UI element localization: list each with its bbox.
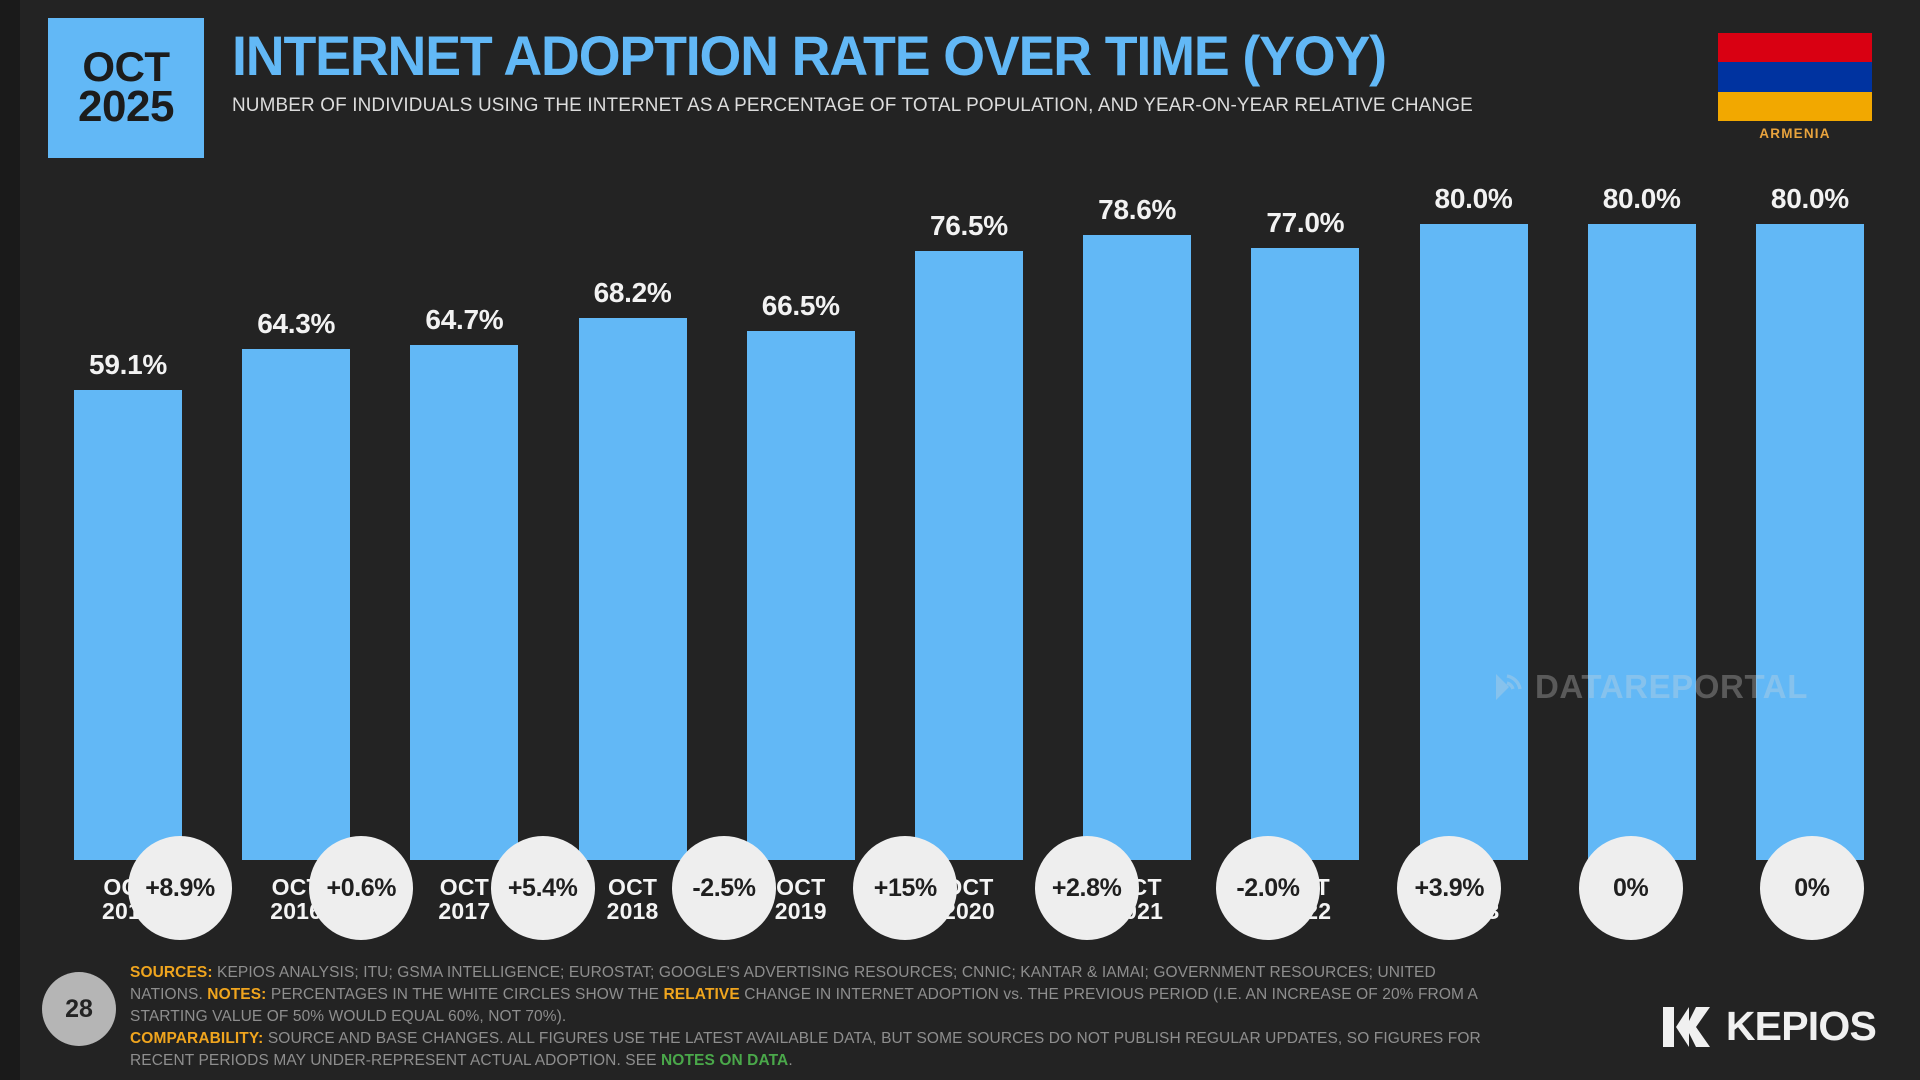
bar[interactable] — [74, 390, 182, 860]
country-flag-block: ARMENIA — [1718, 33, 1872, 141]
yoy-change-circle: -2.0% — [1216, 836, 1320, 940]
bar-column: 64.7% — [410, 160, 518, 860]
slide-header: OCT 2025 INTERNET ADOPTION RATE OVER TIM… — [0, 0, 1920, 160]
flag-stripe-red — [1718, 33, 1872, 62]
bar-value-label: 66.5% — [762, 290, 840, 322]
notes-label: NOTES: — [207, 986, 266, 1003]
country-name: ARMENIA — [1718, 126, 1872, 141]
date-badge: OCT 2025 — [48, 18, 204, 158]
bar-value-label: 76.5% — [930, 210, 1008, 242]
comparability-label: COMPARABILITY: — [130, 1030, 263, 1047]
bar-value-label: 68.2% — [594, 277, 672, 309]
yoy-change-circle: -2.5% — [672, 836, 776, 940]
flag-stripe-blue — [1718, 62, 1872, 91]
bar-column: 66.5% — [747, 160, 855, 860]
bar[interactable] — [579, 318, 687, 861]
slide-root: OCT 2025 INTERNET ADOPTION RATE OVER TIM… — [0, 0, 1920, 1080]
yoy-change-circle: +0.6% — [309, 836, 413, 940]
kepios-logo: KEPIOS — [1663, 1003, 1876, 1050]
yoy-change-circle: 0% — [1760, 836, 1864, 940]
bar-column: 59.1% — [74, 160, 182, 860]
yoy-change-circles: +8.9%+0.6%+5.4%-2.5%+15%+2.8%-2.0%+3.9%0… — [128, 836, 1864, 940]
bar-value-label: 78.6% — [1098, 194, 1176, 226]
bar[interactable] — [915, 251, 1023, 860]
bar[interactable] — [410, 345, 518, 860]
bar-value-label: 59.1% — [89, 349, 167, 381]
bar[interactable] — [1083, 235, 1191, 860]
slide-footer: 28 SOURCES: KEPIOS ANALYSIS; ITU; GSMA I… — [0, 950, 1920, 1080]
kepios-wordmark: KEPIOS — [1726, 1003, 1876, 1050]
yoy-change-circle: 0% — [1579, 836, 1683, 940]
notes-on-data-link[interactable]: NOTES ON DATA — [661, 1052, 788, 1069]
bar-column: 80.0% — [1588, 160, 1696, 860]
bar-value-label: 64.7% — [425, 304, 503, 336]
page-subtitle: NUMBER OF INDIVIDUALS USING THE INTERNET… — [232, 94, 1590, 117]
yoy-change-circle: +15% — [853, 836, 957, 940]
yoy-change-circle: +5.4% — [491, 836, 595, 940]
bar-column: 64.3% — [242, 160, 350, 860]
bar-column: 80.0% — [1756, 160, 1864, 860]
footnotes: SOURCES: KEPIOS ANALYSIS; ITU; GSMA INTE… — [130, 962, 1510, 1072]
bar-series: 59.1%64.3%64.7%68.2%66.5%76.5%78.6%77.0%… — [74, 160, 1864, 860]
notes-text-part1: PERCENTAGES IN THE WHITE CIRCLES SHOW TH… — [271, 986, 659, 1003]
notes-trailing-period: . — [788, 1052, 792, 1069]
bar[interactable] — [1420, 224, 1528, 860]
bar-value-label: 80.0% — [1435, 183, 1513, 215]
bar[interactable] — [747, 331, 855, 860]
bar[interactable] — [242, 349, 350, 860]
bar[interactable] — [1588, 224, 1696, 860]
date-badge-year: 2025 — [78, 87, 174, 127]
page-title: INTERNET ADOPTION RATE OVER TIME (YOY) — [232, 28, 1576, 84]
armenia-flag-icon — [1718, 33, 1872, 121]
chart-area: 59.1%64.3%64.7%68.2%66.5%76.5%78.6%77.0%… — [0, 160, 1920, 950]
bar-value-label: 80.0% — [1603, 183, 1681, 215]
bar-value-label: 77.0% — [1266, 207, 1344, 239]
chart-axis-row: OCT2015OCT2016OCT2017OCT2018OCT2019OCT20… — [74, 848, 1864, 958]
bar-column: 78.6% — [1083, 160, 1191, 860]
yoy-change-circle: +3.9% — [1397, 836, 1501, 940]
yoy-change-circle: +2.8% — [1035, 836, 1139, 940]
bars-plot: 59.1%64.3%64.7%68.2%66.5%76.5%78.6%77.0%… — [74, 160, 1864, 860]
yoy-change-circle: +8.9% — [128, 836, 232, 940]
notes-relative-highlight: RELATIVE — [664, 986, 740, 1003]
bar[interactable] — [1756, 224, 1864, 860]
bar-column: 76.5% — [915, 160, 1023, 860]
comparability-text: SOURCE AND BASE CHANGES. ALL FIGURES USE… — [130, 1030, 1481, 1069]
page-number-badge: 28 — [42, 972, 116, 1046]
kepios-mark-icon — [1663, 1007, 1713, 1047]
flag-stripe-orange — [1718, 92, 1872, 121]
bar-column: 77.0% — [1251, 160, 1359, 860]
bar-column: 68.2% — [579, 160, 687, 860]
title-block: INTERNET ADOPTION RATE OVER TIME (YOY) N… — [232, 28, 1632, 117]
sources-label: SOURCES: — [130, 964, 213, 981]
bar-value-label: 80.0% — [1771, 183, 1849, 215]
bar-value-label: 64.3% — [257, 308, 335, 340]
bar-column: 80.0% — [1420, 160, 1528, 860]
bar[interactable] — [1251, 248, 1359, 861]
